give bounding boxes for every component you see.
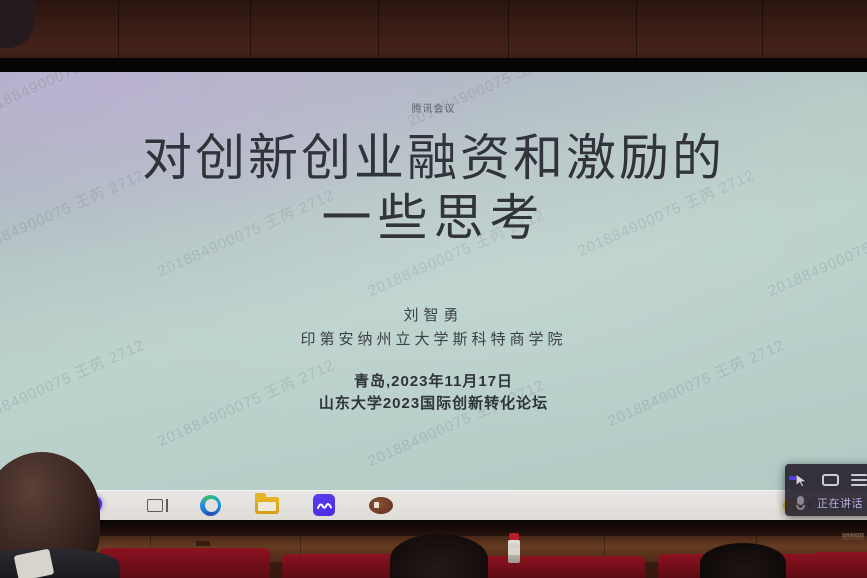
- slide-title-line2: 一些思考: [0, 188, 867, 248]
- audience-seat: [812, 552, 867, 578]
- slide-affiliation: 印第安纳州立大学斯科特商学院: [0, 328, 867, 349]
- slide-venue-forum: 山东大学2023国际创新转化论坛: [0, 392, 867, 413]
- slide-venue-date: 青岛,2023年11月17日: [0, 370, 867, 391]
- audience-seat: [100, 548, 270, 578]
- microphone-icon: [796, 496, 805, 511]
- task-view-icon: [147, 499, 163, 512]
- presentation-slide: 201884900075 王芮 2712 201884900075 王芮 271…: [0, 72, 867, 490]
- task-view-button[interactable]: [143, 493, 167, 517]
- water-bottle: [508, 533, 520, 563]
- audience-head: [700, 543, 786, 578]
- float-toolbar-status-row: 正在讲话: [785, 490, 867, 514]
- windows-taskbar[interactable]: 6°C 晴朗: [0, 490, 867, 520]
- slide-title: 对创新创业融资和激励的 一些思考: [0, 128, 867, 248]
- slide-title-line1: 对创新创业融资和激励的: [142, 130, 725, 186]
- exit-sign: SHANDONG: [842, 533, 864, 540]
- slide-author: 刘智勇: [0, 304, 867, 325]
- file-explorer-button[interactable]: [255, 493, 279, 517]
- meeting-app-label: 腾讯会议: [0, 100, 867, 115]
- app-brown-icon: [369, 497, 393, 514]
- microphone-button[interactable]: [796, 496, 805, 511]
- speaking-status-text: 正在讲话: [817, 495, 863, 511]
- edge-icon: [200, 495, 221, 516]
- taskbar-icon-group: [62, 493, 783, 517]
- wall-vent: [196, 541, 210, 546]
- auditorium-scene: 201884900075 王芮 2712 201884900075 王芮 271…: [0, 0, 867, 578]
- folder-icon: [255, 497, 279, 514]
- audience-seat: [470, 556, 645, 578]
- audience-head: [390, 534, 488, 578]
- app-brown-button[interactable]: [369, 493, 393, 517]
- tencent-meeting-icon: [313, 494, 335, 516]
- tencent-meeting-button[interactable]: [312, 493, 336, 517]
- edge-button[interactable]: [198, 493, 222, 517]
